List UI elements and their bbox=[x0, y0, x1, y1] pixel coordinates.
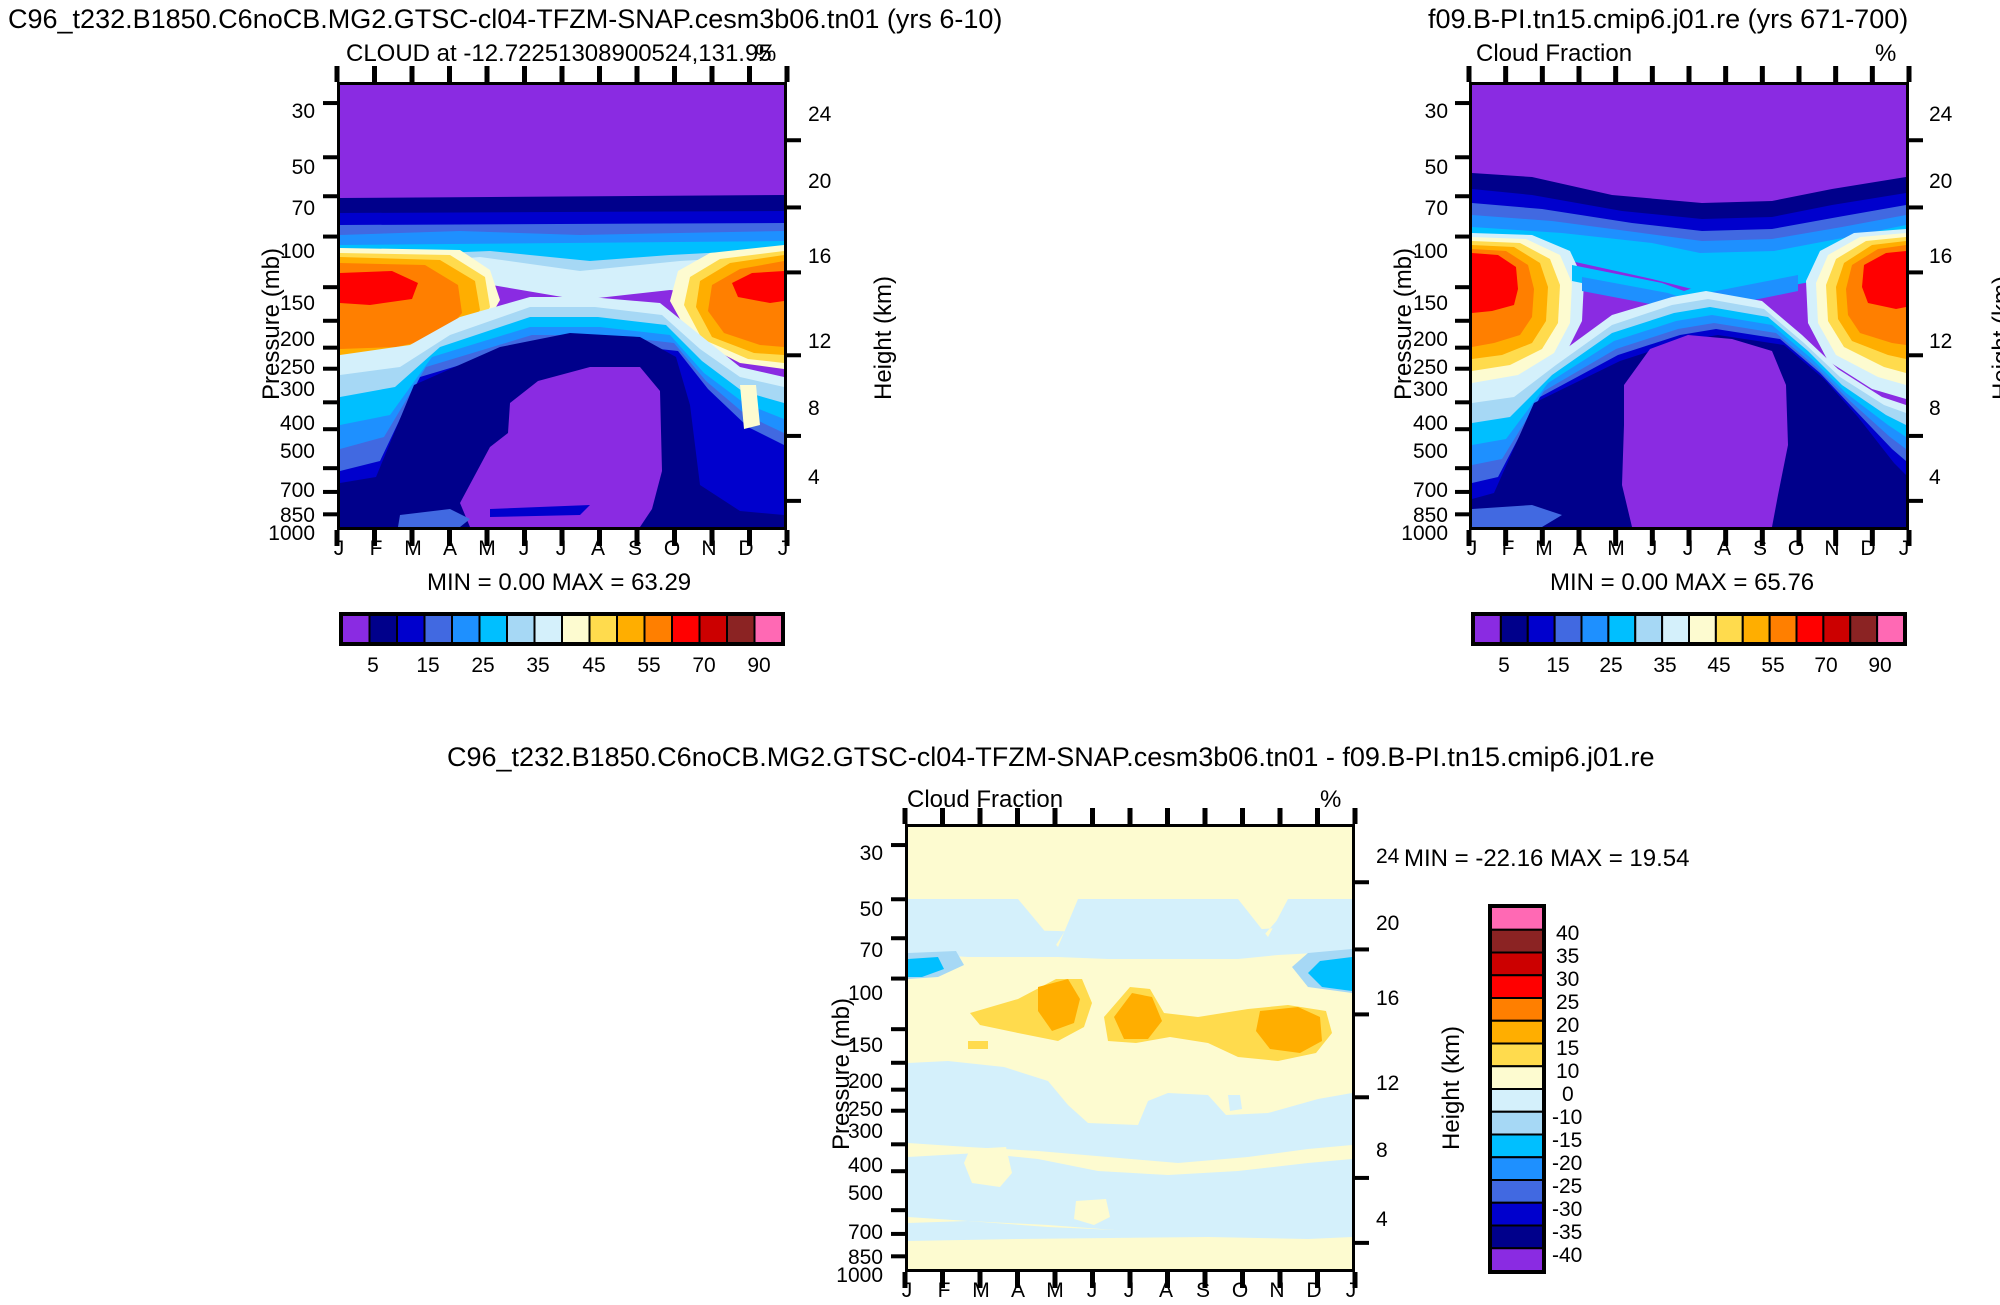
control-subtitle-right: % bbox=[1875, 40, 1896, 68]
difference-plot-area bbox=[905, 824, 1355, 1272]
test-subtitle-right: % bbox=[755, 40, 776, 68]
control-subtitle-left: Cloud Fraction bbox=[1476, 40, 1632, 68]
difference-title: C96_t232.B1850.C6noCB.MG2.GTSC-cl04-TFZM… bbox=[447, 742, 1655, 773]
difference-ylabel-height: Height (km) bbox=[1438, 1026, 1466, 1150]
test-minmax: MIN = 0.00 MAX = 63.29 bbox=[427, 569, 691, 597]
control-title: f09.B-PI.tn15.cmip6.j01.re (yrs 671-700) bbox=[1428, 4, 1908, 35]
test-ylabel-height: Height (km) bbox=[870, 276, 898, 400]
difference-subtitle-right: % bbox=[1320, 786, 1341, 814]
control-colorbar bbox=[1471, 612, 1907, 646]
test-colorbar bbox=[339, 612, 785, 646]
difference-subtitle-left: Cloud Fraction bbox=[907, 786, 1063, 814]
control-minmax: MIN = 0.00 MAX = 65.76 bbox=[1550, 569, 1814, 597]
test-title: C96_t232.B1850.C6noCB.MG2.GTSC-cl04-TFZM… bbox=[8, 4, 1002, 35]
difference-colorbar bbox=[1488, 904, 1546, 1274]
test-subtitle-left: CLOUD at -12.72251308900524,131.95 bbox=[346, 40, 772, 68]
control-ylabel-height: Height (km) bbox=[1988, 276, 2000, 400]
control-plot-area bbox=[1469, 82, 1909, 530]
test-plot-area bbox=[337, 82, 787, 530]
difference-minmax: MIN = -22.16 MAX = 19.54 bbox=[1404, 845, 1689, 873]
